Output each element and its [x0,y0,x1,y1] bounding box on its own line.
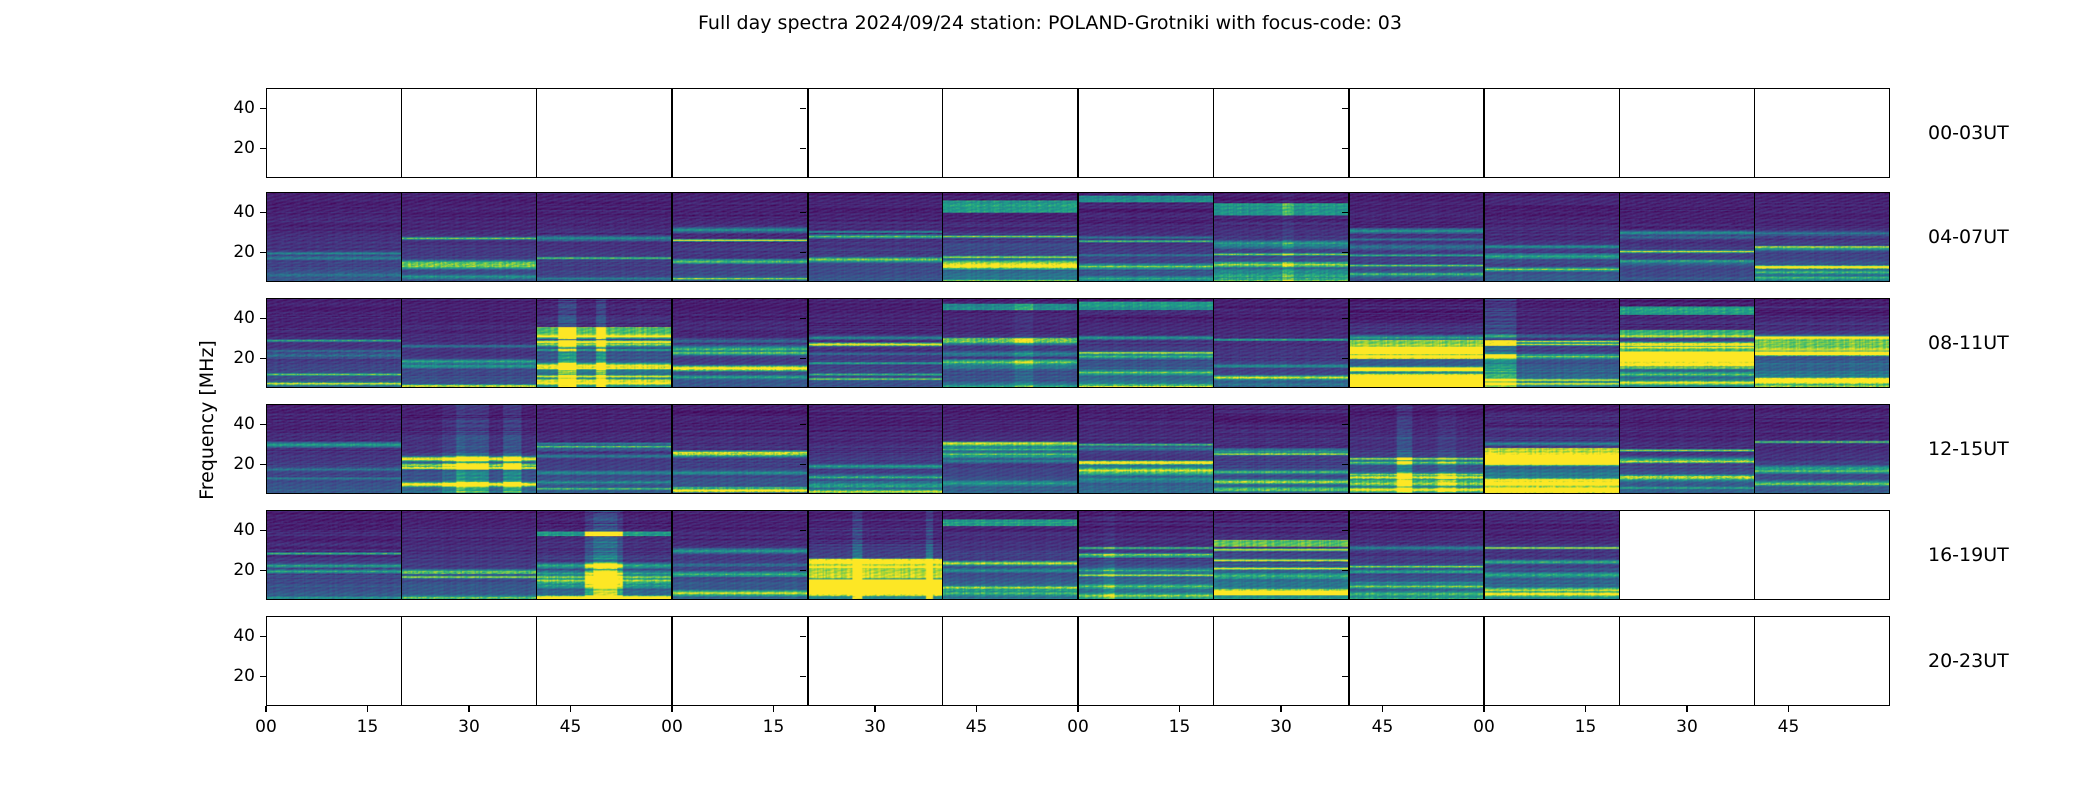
y-tick-label: 40 [233,520,255,540]
spectrogram-cell [672,88,807,178]
y-tick-label: 20 [233,454,255,474]
y-tick-mark-inner [800,676,806,677]
spectrogram-image [1484,510,1619,600]
panel-separator [401,404,402,494]
panel-separator [1077,298,1078,388]
x-tick-label: 45 [560,717,582,737]
panel-separator [1483,88,1484,178]
y-tick-mark-inner [800,108,806,109]
panel-separator [1348,404,1350,494]
spectrogram-cell [1619,510,1754,600]
panel-separator [1077,404,1078,494]
panel-separator [1754,298,1755,388]
panel-separator [671,192,672,282]
panel-separator [1754,616,1755,706]
spectrogram-cell [1755,298,1890,388]
spectrogram-cell [1484,88,1619,178]
spectrogram-cell [943,510,1078,600]
panel-separator [942,404,943,494]
spectrogram-cell [1078,88,1213,178]
spectrogram-cell [266,298,401,388]
panel-separator [536,404,537,494]
spectrogram-row-00-03ut [266,88,1890,178]
spectrogram-cell [807,510,942,600]
row-label-00-03ut: 00-03UT [1928,122,2009,144]
spectrogram-image [943,192,1078,282]
y-tick-mark-inner [800,212,806,213]
y-tick-label: 20 [233,348,255,368]
spectrogram-cell [943,88,1078,178]
spectrogram-cell [537,192,672,282]
y-tick-mark-inner [1342,424,1348,425]
x-tick-mark [1179,706,1180,712]
panel-separator [807,192,809,282]
spectrogram-image [1213,510,1348,600]
spectrogram-image [266,510,401,600]
spectrogram-cell [807,298,942,388]
panel-separator [1754,404,1755,494]
spectrogram-image [807,192,942,282]
y-tick-mark-inner [1342,464,1348,465]
x-tick-label: 30 [1676,717,1698,737]
x-tick-mark [1077,706,1078,712]
spectrogram-image [807,510,942,600]
spectrogram-cell [1078,192,1213,282]
panel-separator [942,298,943,388]
y-tick-label: 20 [233,138,255,158]
panel-separator [671,510,672,600]
spectrogram-figure: Full day spectra 2024/09/24 station: POL… [0,0,2100,800]
x-tick-label: 30 [1270,717,1292,737]
panel-separator [1483,510,1484,600]
panel-separator [807,616,809,706]
panel-separator [942,192,943,282]
spectrogram-cell [943,298,1078,388]
spectrogram-image [1349,404,1484,494]
spectrogram-image [266,404,401,494]
spectrogram-cell [1755,616,1890,706]
spectrogram-image [1349,298,1484,388]
spectrogram-cell [266,510,401,600]
panel-separator [807,298,809,388]
spectrogram-cell [401,616,536,706]
panel-separator [671,298,672,388]
spectrogram-cell [943,404,1078,494]
spectrogram-cell [1213,88,1348,178]
spectrogram-image [672,298,807,388]
y-tick-mark-inner [1342,570,1348,571]
spectrogram-cell [1349,616,1484,706]
y-tick-mark-inner [800,358,806,359]
y-tick-mark-inner [800,464,806,465]
panel-separator [1213,298,1214,388]
x-tick-label: 15 [357,717,379,737]
y-tick-label: 40 [233,308,255,328]
y-tick-mark-inner [800,148,806,149]
spectrogram-image [672,510,807,600]
spectrogram-image [1755,192,1890,282]
y-tick-mark-inner [800,530,806,531]
panel-separator [807,404,809,494]
x-tick-mark [1382,706,1383,712]
y-tick-label: 40 [233,414,255,434]
spectrogram-cell [1484,510,1619,600]
x-tick-label: 15 [1169,717,1191,737]
y-tick-mark-inner [1342,530,1348,531]
y-tick-mark [260,318,266,319]
spectrogram-cell [1213,298,1348,388]
x-tick-label: 45 [966,717,988,737]
spectrogram-cell [401,88,536,178]
spectrogram-cell [266,404,401,494]
y-tick-mark-inner [800,636,806,637]
x-tick-label: 15 [1575,717,1597,737]
spectrogram-cell [1078,298,1213,388]
row-label-16-19ut: 16-19UT [1928,544,2009,566]
spectrogram-image [1078,192,1213,282]
y-tick-label: 40 [233,202,255,222]
x-tick-mark [265,706,266,712]
spectrogram-cell [807,404,942,494]
spectrogram-cell [1619,616,1754,706]
spectrogram-row-16-19ut [266,510,1890,600]
spectrogram-cell [1349,404,1484,494]
panel-separator [1348,298,1350,388]
panel-separator [536,88,537,178]
spectrogram-cell [1619,298,1754,388]
spectrogram-row-12-15ut [266,404,1890,494]
panel-separator [1213,192,1214,282]
y-tick-mark-inner [800,318,806,319]
panel-separator [536,192,537,282]
spectrogram-cell [1349,298,1484,388]
x-tick-label: 00 [1473,717,1495,737]
panel-separator [1213,616,1214,706]
spectrogram-image [537,192,672,282]
x-tick-label: 30 [458,717,480,737]
row-label-04-07ut: 04-07UT [1928,226,2009,248]
y-tick-label: 20 [233,242,255,262]
y-tick-label: 40 [233,626,255,646]
spectrogram-cell [1755,88,1890,178]
spectrogram-cell [401,298,536,388]
spectrogram-cell [1213,616,1348,706]
y-tick-mark [260,108,266,109]
panel-separator [1213,88,1214,178]
spectrogram-cell [1213,192,1348,282]
spectrogram-image [1619,298,1754,388]
panel-separator [671,616,672,706]
panel-separator [536,616,537,706]
spectrogram-cell [943,616,1078,706]
spectrogram-image [266,192,401,282]
x-tick-mark [671,706,672,712]
panel-separator [942,88,943,178]
y-tick-label: 20 [233,560,255,580]
panel-separator [401,298,402,388]
spectrogram-cell [672,404,807,494]
spectrogram-cell [1619,192,1754,282]
spectrogram-image [537,510,672,600]
panel-separator [536,298,537,388]
spectrogram-cell [672,298,807,388]
panel-separator [1483,616,1484,706]
panel-separator [1483,404,1484,494]
spectrogram-row-20-23ut [266,616,1890,706]
x-tick-mark [468,706,469,712]
spectrogram-image [1349,192,1484,282]
x-tick-label: 00 [661,717,683,737]
spectrogram-cell [1755,192,1890,282]
spectrogram-image [401,192,536,282]
spectrogram-cell [807,192,942,282]
y-tick-mark-inner [1342,212,1348,213]
x-tick-mark [773,706,774,712]
spectrogram-image [266,298,401,388]
y-tick-mark-inner [1342,252,1348,253]
spectrogram-row-08-11ut [266,298,1890,388]
y-tick-mark [260,212,266,213]
y-tick-mark-inner [1342,318,1348,319]
spectrogram-cell [1619,88,1754,178]
y-tick-mark-inner [800,424,806,425]
spectrogram-cell [1349,510,1484,600]
panel-separator [1483,298,1484,388]
spectrogram-image [1484,298,1619,388]
spectrogram-image [943,404,1078,494]
y-tick-label: 20 [233,666,255,686]
spectrogram-image [401,404,536,494]
spectrogram-cell [672,616,807,706]
spectrogram-image [807,404,942,494]
x-tick-label: 00 [255,717,277,737]
x-tick-label: 15 [763,717,785,737]
panel-separator [1348,192,1350,282]
spectrogram-cell [537,510,672,600]
x-tick-mark [1280,706,1281,712]
panel-separator [1619,404,1620,494]
panel-separator [671,88,672,178]
spectrogram-image [1213,298,1348,388]
spectrogram-image [672,192,807,282]
x-tick-label: 45 [1372,717,1394,737]
y-tick-mark-inner [1342,148,1348,149]
y-tick-mark-inner [1342,636,1348,637]
spectrogram-cell [672,192,807,282]
panel-separator [1077,510,1078,600]
x-tick-mark [976,706,977,712]
panel-separator [1754,88,1755,178]
spectrogram-image [1619,404,1754,494]
y-tick-mark [260,252,266,253]
row-label-08-11ut: 08-11UT [1928,332,2009,354]
spectrogram-image [1755,298,1890,388]
y-tick-mark [260,424,266,425]
panel-separator [671,404,672,494]
panel-separator [1754,192,1755,282]
y-tick-mark-inner [800,252,806,253]
panel-separator [942,510,943,600]
x-tick-mark [1788,706,1789,712]
spectrogram-image [1484,404,1619,494]
y-tick-mark-inner [1342,108,1348,109]
panel-separator [1077,616,1078,706]
spectrogram-image [1349,510,1484,600]
spectrogram-cell [1755,404,1890,494]
panel-separator [1213,510,1214,600]
spectrogram-image [537,404,672,494]
spectrogram-image [1078,510,1213,600]
y-tick-mark-inner [1342,358,1348,359]
panel-separator [401,192,402,282]
y-axis-label: Frequency [MHz] [196,150,218,690]
panel-separator [807,88,809,178]
x-tick-mark [570,706,571,712]
spectrogram-image [1484,192,1619,282]
panel-separator [1619,192,1620,282]
spectrogram-cell [1484,616,1619,706]
y-tick-mark [260,676,266,677]
panel-separator [1619,616,1620,706]
x-tick-label: 30 [864,717,886,737]
spectrogram-cell [1484,404,1619,494]
spectrogram-image [401,298,536,388]
panel-separator [401,510,402,600]
x-tick-mark [1686,706,1687,712]
panel-separator [1077,88,1078,178]
spectrogram-cell [401,192,536,282]
page-title: Full day spectra 2024/09/24 station: POL… [0,12,2100,34]
panel-separator [1348,88,1350,178]
x-tick-label: 45 [1778,717,1800,737]
spectrogram-cell [401,510,536,600]
x-tick-mark [1585,706,1586,712]
spectrogram-cell [1078,510,1213,600]
panel-separator [1619,88,1620,178]
spectrogram-image [1078,404,1213,494]
spectrogram-cell [1484,298,1619,388]
spectrogram-image [1213,404,1348,494]
y-tick-mark [260,636,266,637]
row-label-20-23ut: 20-23UT [1928,650,2009,672]
spectrogram-cell [401,404,536,494]
panel-separator [401,616,402,706]
panel-separator [1348,616,1350,706]
spectrogram-image [401,510,536,600]
panel-separator [1619,298,1620,388]
y-tick-mark-inner [800,570,806,571]
panel-separator [1077,192,1078,282]
spectrogram-cell [537,88,672,178]
spectrogram-image [1619,192,1754,282]
spectrogram-cell [943,192,1078,282]
panel-separator [536,510,537,600]
y-tick-mark [260,530,266,531]
y-tick-mark [260,358,266,359]
y-tick-mark [260,148,266,149]
spectrogram-cell [266,192,401,282]
x-tick-label: 00 [1067,717,1089,737]
spectrogram-cell [807,616,942,706]
spectrogram-cell [1619,404,1754,494]
spectrogram-image [537,298,672,388]
spectrogram-cell [1078,616,1213,706]
spectrogram-image [672,404,807,494]
spectrogram-cell [672,510,807,600]
panel-separator [1483,192,1484,282]
panel-separator [1619,510,1620,600]
spectrogram-image [943,298,1078,388]
spectrogram-image [807,298,942,388]
y-tick-mark-inner [1342,676,1348,677]
spectrogram-cell [1349,88,1484,178]
spectrogram-cell [1755,510,1890,600]
x-tick-mark [367,706,368,712]
spectrogram-image [1755,404,1890,494]
panel-separator [401,88,402,178]
x-tick-mark [874,706,875,712]
y-tick-mark [260,570,266,571]
spectrogram-row-04-07ut [266,192,1890,282]
spectrogram-cell [1484,192,1619,282]
spectrogram-image [1078,298,1213,388]
panel-separator [1213,404,1214,494]
x-tick-mark [1483,706,1484,712]
spectrogram-cell [266,88,401,178]
panel-separator [1348,510,1350,600]
spectrogram-image [1213,192,1348,282]
spectrogram-cell [266,616,401,706]
y-tick-label: 40 [233,98,255,118]
y-tick-mark [260,464,266,465]
row-label-12-15ut: 12-15UT [1928,438,2009,460]
spectrogram-cell [537,616,672,706]
spectrogram-image [943,510,1078,600]
panel-separator [942,616,943,706]
panel-separator [1754,510,1755,600]
panel-separator [807,510,809,600]
spectrogram-cell [1078,404,1213,494]
spectrogram-cell [537,404,672,494]
spectrogram-cell [1213,510,1348,600]
spectrogram-cell [1349,192,1484,282]
spectrogram-cell [537,298,672,388]
spectrogram-cell [807,88,942,178]
spectrogram-cell [1213,404,1348,494]
